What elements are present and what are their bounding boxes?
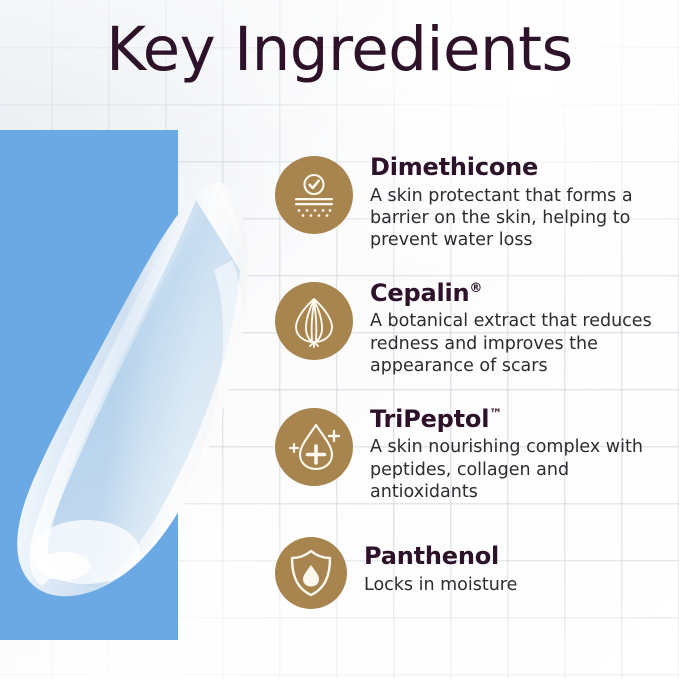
ingredient-item-panthenol: Panthenol Locks in moisture	[275, 529, 675, 609]
ingredient-name: Panthenol	[364, 543, 517, 571]
product-visual	[0, 130, 178, 640]
ingredient-text-dimethicone: Dimethicone A skin protectant that forms…	[370, 152, 675, 252]
shield-droplet-icon	[275, 537, 347, 609]
ingredient-item-tripeptol: TriPeptol™ A skin nourishing complex wit…	[275, 404, 675, 504]
ingredient-item-dimethicone: Dimethicone A skin protectant that forms…	[275, 152, 675, 252]
ingredient-name: TriPeptol™	[370, 406, 675, 434]
ingredient-name: Dimethicone	[370, 154, 675, 182]
ingredient-superscript: ™	[489, 407, 502, 422]
onion-bulb-icon	[275, 282, 353, 360]
ingredient-description: Locks in moisture	[364, 574, 517, 596]
ingredient-item-cepalin: Cepalin® A botanical extract that reduce…	[275, 278, 675, 378]
ingredient-text-cepalin: Cepalin® A botanical extract that reduce…	[370, 278, 675, 378]
ingredient-superscript: ®	[469, 281, 482, 296]
key-ingredients-infographic: Key Ingredients	[0, 0, 679, 679]
ingredient-text-tripeptol: TriPeptol™ A skin nourishing complex wit…	[370, 404, 675, 504]
ingredient-description: A skin nourishing complex with peptides,…	[370, 436, 675, 503]
ingredient-description: A skin protectant that forms a barrier o…	[370, 185, 675, 252]
ingredient-name: Cepalin®	[370, 280, 675, 308]
blue-background-panel	[0, 130, 178, 640]
barrier-check-icon	[275, 156, 353, 234]
page-title: Key Ingredients	[0, 16, 679, 83]
ingredient-list: Dimethicone A skin protectant that forms…	[275, 152, 675, 609]
droplet-plus-icon	[275, 408, 353, 486]
ingredient-description: A botanical extract that reduces redness…	[370, 310, 675, 377]
ingredient-text-panthenol: Panthenol Locks in moisture	[364, 529, 517, 596]
